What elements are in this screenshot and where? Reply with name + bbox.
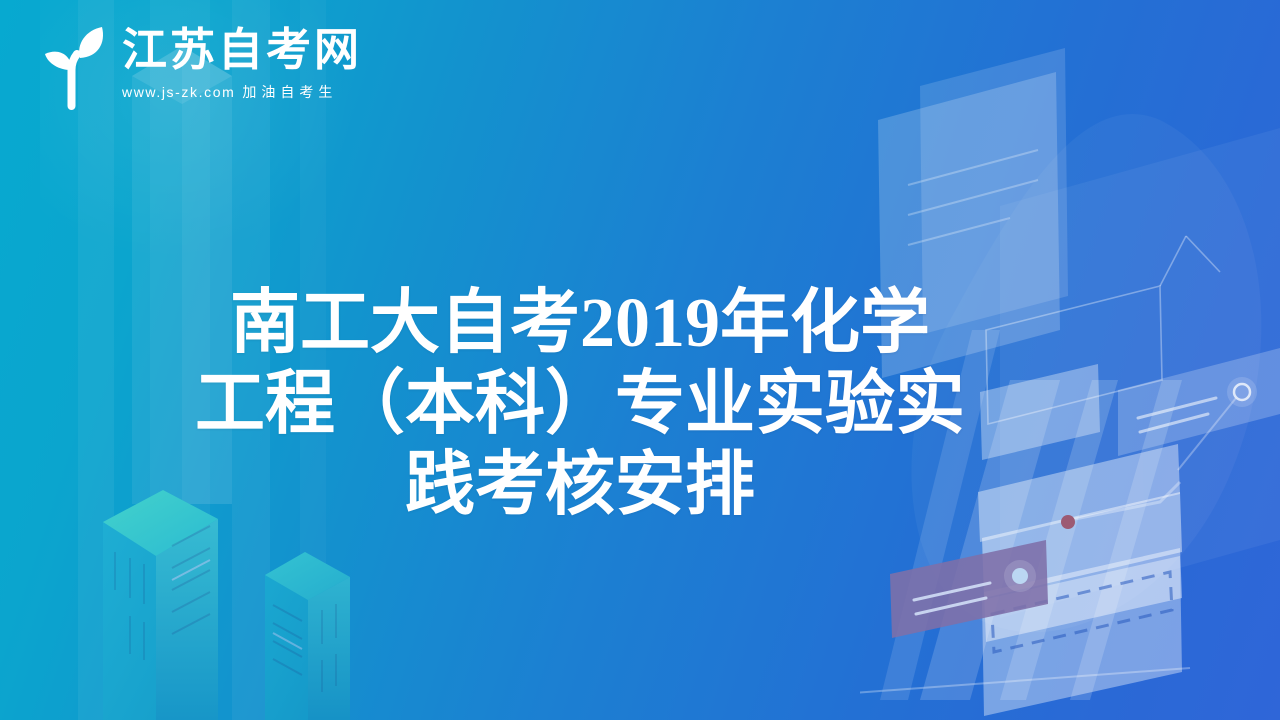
page-title: 南工大自考2019年化学 工程（本科）专业实验实 践考核安排 bbox=[150, 283, 1010, 527]
logo-tagline: www.js-zk.com加油自考生 bbox=[122, 82, 362, 102]
page-title-line-3: 践考核安排 bbox=[150, 445, 1010, 526]
banner-root: 江苏自考网 www.js-zk.com加油自考生 南工大自考2019年化学 工程… bbox=[0, 0, 1280, 720]
logo-site-name: 江苏自考网 bbox=[122, 26, 362, 73]
sprout-leaf-icon bbox=[30, 18, 116, 112]
page-title-line-1: 南工大自考2019年化学 bbox=[150, 283, 1010, 364]
logo-tagline-slogan: 加油自考生 bbox=[242, 84, 337, 100]
logo-tagline-url: www.js-zk.com bbox=[122, 84, 235, 100]
site-logo[interactable]: 江苏自考网 www.js-zk.com加油自考生 bbox=[30, 18, 362, 112]
page-title-line-2: 工程（本科）专业实验实 bbox=[150, 364, 1010, 445]
